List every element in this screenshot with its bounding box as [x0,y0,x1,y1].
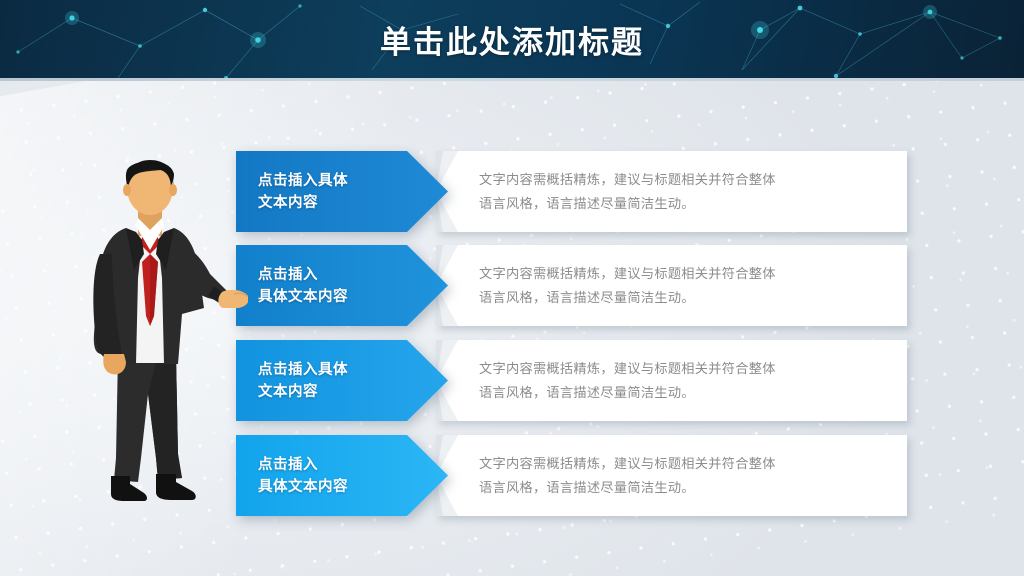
businessman-illustration [78,158,248,503]
chevron-shape[interactable] [236,245,448,326]
content-row[interactable]: 点击插入具体 文本内容 文字内容需概括精炼，建议与标题相关并符合整体 语言风格，… [236,340,907,421]
content-row[interactable]: 点击插入 具体文本内容 文字内容需概括精炼，建议与标题相关并符合整体 语言风格，… [236,435,907,516]
chevron-shape[interactable] [236,340,448,421]
chevron-shape[interactable] [236,151,448,232]
slide-canvas: 单击此处添加标题 [0,0,1024,576]
content-card [436,245,907,326]
slide-header: 单击此处添加标题 [0,0,1024,78]
page-title: 单击此处添加标题 [0,0,1024,78]
content-card [436,435,907,516]
content-row[interactable]: 点击插入具体 文本内容 文字内容需概括精炼，建议与标题相关并符合整体 语言风格，… [236,151,907,232]
content-card [436,340,907,421]
content-row[interactable]: 点击插入 具体文本内容 文字内容需概括精炼，建议与标题相关并符合整体 语言风格，… [236,245,907,326]
chevron-shape[interactable] [236,435,448,516]
content-card [436,151,907,232]
